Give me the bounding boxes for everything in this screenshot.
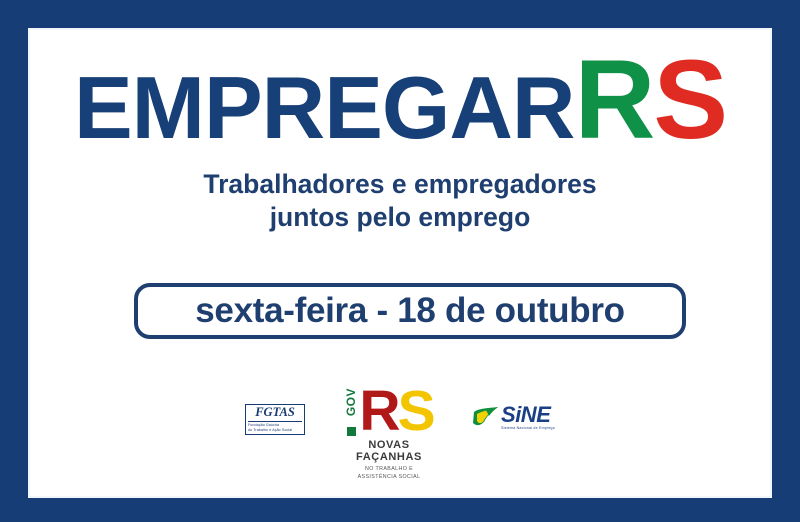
subtitle-line-2: juntos pelo emprego — [30, 201, 770, 234]
date-badge-text: sexta-feira - 18 de outubro — [195, 291, 625, 331]
gov-rs-letter-r: R — [359, 388, 397, 436]
gov-rs-subtagline: NO TRABALHO E ASSISTÊNCIA SOCIAL — [335, 466, 443, 481]
fgtas-wordmark: FGTAS — [248, 406, 302, 420]
fgtas-box: FGTAS Fundação Gaúcha do Trabalho e Ação… — [245, 404, 305, 435]
sine-text-block: SiNE Sistema Nacional de Emprego — [501, 404, 555, 431]
gov-square-icon — [347, 427, 356, 436]
title-letter-r: R — [574, 44, 653, 156]
fgtas-subtitle: Fundação Gaúcha do Trabalho e Ação Socia… — [248, 421, 302, 434]
subtitle-line-1: Trabalhadores e empregadores — [30, 168, 770, 201]
logo-sine: SiNE Sistema Nacional de Emprego — [473, 388, 555, 431]
logo-gov-rs: GOV R S NOVAS FAÇANHAS NO TRABALHO E ASS… — [335, 388, 443, 481]
sine-wordmark: SiNE — [501, 404, 555, 426]
sine-subtitle: Sistema Nacional de Emprego — [501, 427, 555, 431]
poster-inner-panel: EMPREGAR R S Trabalhadores e empregadore… — [30, 30, 770, 496]
gov-label-text: GOV — [345, 388, 357, 416]
gov-rs-letter-s: S — [398, 388, 433, 436]
title-main-text: EMPREGAR — [74, 64, 575, 152]
date-badge: sexta-feira - 18 de outubro — [134, 283, 686, 339]
title-letter-s: S — [653, 44, 726, 156]
poster-frame: EMPREGAR R S Trabalhadores e empregadore… — [0, 0, 800, 522]
fgtas-subtitle-line-2: do Trabalho e Ação Social — [248, 428, 302, 433]
logo-fgtas: FGTAS Fundação Gaúcha do Trabalho e Ação… — [245, 388, 305, 435]
sine-swoosh-icon — [473, 406, 499, 428]
gov-rs-subtagline-line-2: ASSISTÊNCIA SOCIAL — [335, 474, 443, 482]
gov-vertical-label: GOV — [345, 388, 357, 436]
poster-title: EMPREGAR R S — [30, 44, 770, 164]
gov-rs-mark: GOV R S — [335, 388, 443, 436]
poster-subtitle: Trabalhadores e empregadores juntos pelo… — [30, 168, 770, 235]
gov-rs-subtagline-line-1: NO TRABALHO E — [335, 466, 443, 474]
logo-strip: FGTAS Fundação Gaúcha do Trabalho e Ação… — [30, 388, 770, 488]
